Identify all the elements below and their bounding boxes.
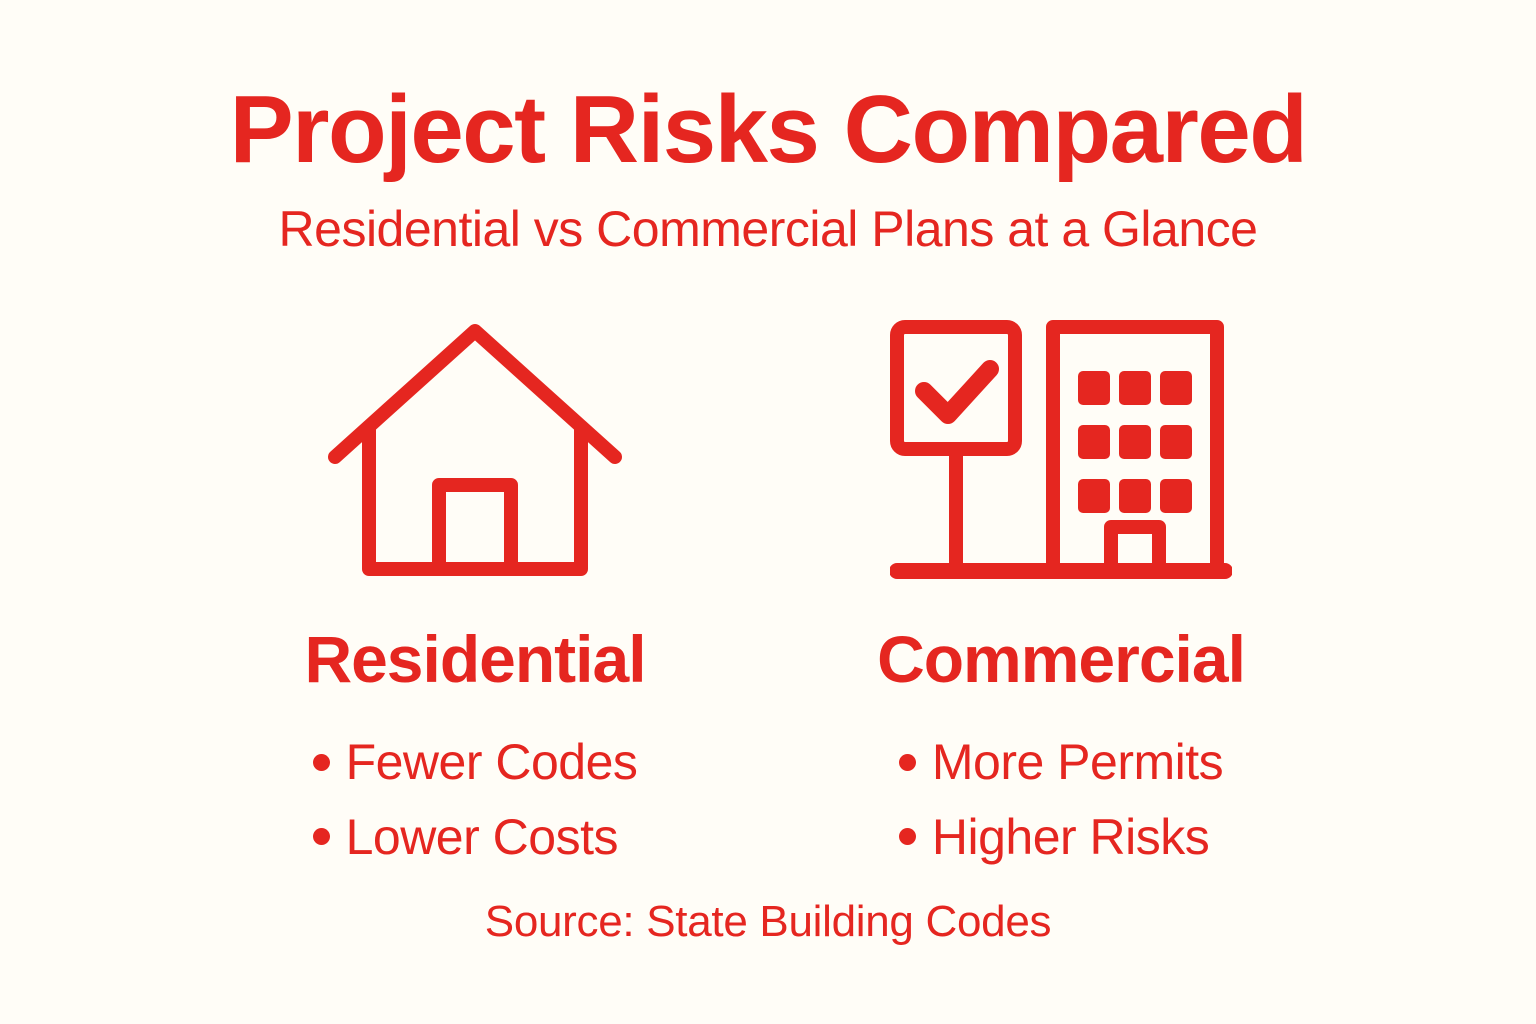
- bullet-dot-icon: [899, 828, 916, 845]
- header: Project Risks Compared Residential vs Co…: [0, 82, 1536, 254]
- bullet-dot-icon: [313, 754, 330, 771]
- comparison-columns: Residential Fewer Codes Lower Costs: [0, 300, 1536, 863]
- list-item: Lower Costs: [313, 811, 638, 864]
- bullet-label: Lower Costs: [346, 811, 618, 864]
- list-item: Fewer Codes: [313, 736, 638, 789]
- list-item: More Permits: [899, 736, 1223, 789]
- page-title: Project Risks Compared: [0, 82, 1536, 178]
- office-building-permit-sign-icon: [890, 300, 1232, 600]
- bullet-label: Higher Risks: [932, 811, 1209, 864]
- column-heading-residential: Residential: [304, 626, 645, 692]
- source-note: Source: State Building Codes: [0, 900, 1536, 944]
- page-subtitle: Residential vs Commercial Plans at a Gla…: [0, 204, 1536, 254]
- bullet-dot-icon: [899, 754, 916, 771]
- column-commercial: Commercial More Permits Higher Risks: [768, 300, 1328, 863]
- list-item: Higher Risks: [899, 811, 1223, 864]
- column-heading-commercial: Commercial: [877, 626, 1245, 692]
- bullet-dot-icon: [313, 828, 330, 845]
- bullet-list-commercial: More Permits Higher Risks: [899, 736, 1223, 863]
- house-icon: [325, 300, 625, 600]
- bullet-label: More Permits: [932, 736, 1223, 789]
- bullet-list-residential: Fewer Codes Lower Costs: [313, 736, 638, 863]
- column-residential: Residential Fewer Codes Lower Costs: [208, 300, 768, 863]
- infographic-poster: Project Risks Compared Residential vs Co…: [0, 0, 1536, 1024]
- bullet-label: Fewer Codes: [346, 736, 638, 789]
